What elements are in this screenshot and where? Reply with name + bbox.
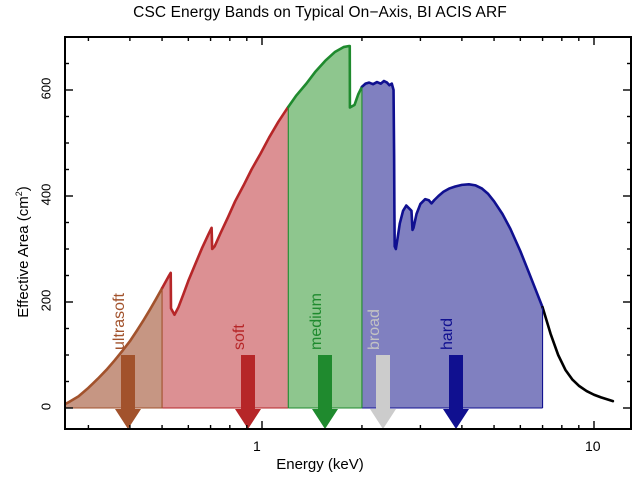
x-tick-label: 10 (585, 438, 601, 454)
y-tick-label: 600 (39, 77, 54, 101)
chart-root: CSC Energy Bands on Typical On−Axis, BI … (0, 0, 640, 480)
plot-frame (64, 36, 632, 430)
y-tick-label: 400 (39, 183, 54, 207)
y-tick-label: 200 (39, 289, 54, 313)
x-tick-label: 1 (253, 438, 261, 454)
y-tick-label: 0 (39, 395, 54, 419)
